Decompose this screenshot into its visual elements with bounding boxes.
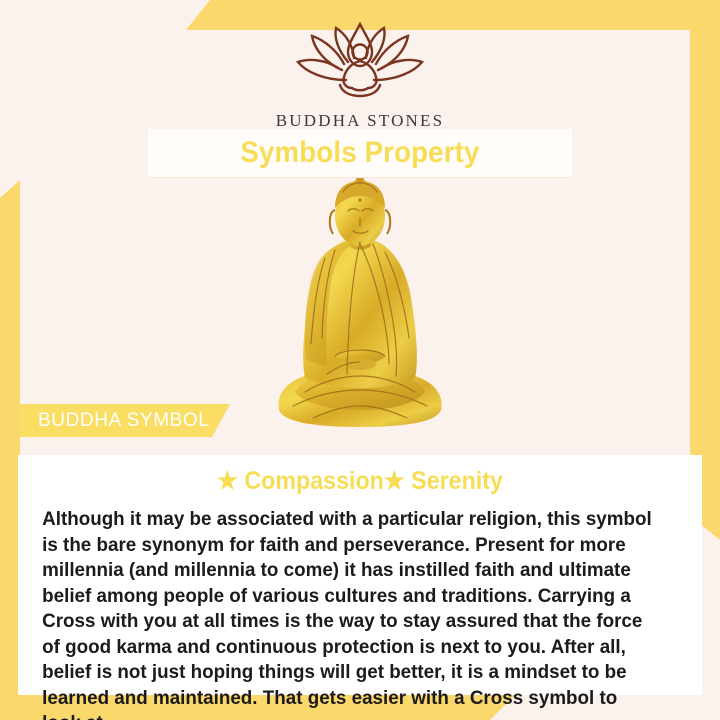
lotus-meditation-figure-icon [280, 22, 440, 105]
brand-logo: BUDDHA STONES [0, 22, 720, 131]
poster-root: BUDDHA STONES Symbols Property [0, 0, 720, 720]
decor-left-bar [0, 180, 20, 720]
content-panel: ★ Compassion★ Serenity Although it may b… [18, 455, 702, 695]
ribbon-label: BUDDHA SYMBOL [20, 410, 209, 432]
page-title: Symbols Property [240, 136, 479, 170]
title-banner: Symbols Property [148, 129, 572, 177]
golden-seated-buddha-statue [265, 178, 455, 430]
section-ribbon: BUDDHA SYMBOL [20, 404, 230, 437]
panel-headline: ★ Compassion★ Serenity [42, 455, 678, 496]
brand-name: BUDDHA STONES [276, 111, 445, 131]
panel-body-text: Although it may be associated with a par… [18, 496, 678, 720]
